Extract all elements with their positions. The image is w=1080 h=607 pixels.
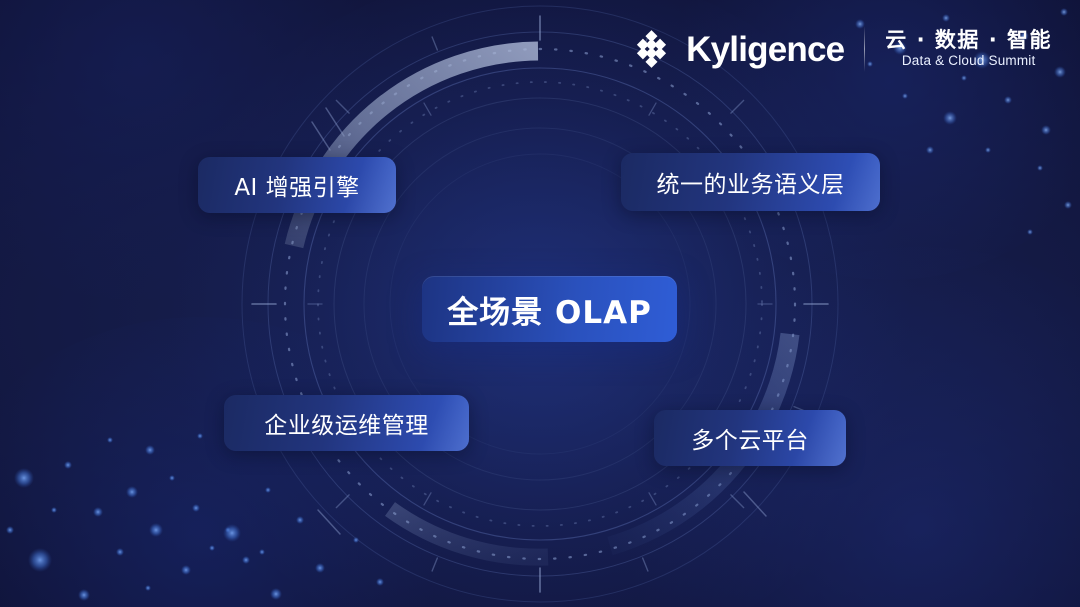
kyligence-logo-icon (632, 30, 670, 68)
brand-divider (864, 26, 865, 72)
center-node-label: 全场景 OLAP (447, 287, 652, 332)
slide-root: Kyligence 云 · 数据 · 智能 Data & Cloud Summi… (0, 0, 1080, 607)
center-node-olap[interactable]: 全场景 OLAP (422, 276, 677, 342)
node-label: 多个云平台 (691, 421, 809, 455)
node-label: AI 增强引擎 (234, 168, 359, 202)
node-ai-engine[interactable]: AI 增强引擎 (198, 157, 396, 213)
brand-name: Kyligence (686, 32, 844, 67)
node-label: 企业级运维管理 (264, 406, 429, 440)
bottom-left-glow (0, 317, 460, 607)
node-label: 统一的业务语义层 (657, 165, 845, 199)
top-left-glow (0, 0, 400, 300)
summit-title-cn: 云 · 数据 · 智能 (885, 30, 1052, 51)
node-multi-cloud[interactable]: 多个云平台 (654, 410, 846, 466)
summit-title-en: Data & Cloud Summit (902, 54, 1036, 68)
summit-lockup: 云 · 数据 · 智能 Data & Cloud Summit (885, 30, 1052, 68)
node-ops-management[interactable]: 企业级运维管理 (224, 395, 469, 451)
brand-lockup: Kyligence 云 · 数据 · 智能 Data & Cloud Summi… (632, 26, 1052, 72)
node-semantic-layer[interactable]: 统一的业务语义层 (621, 153, 880, 211)
